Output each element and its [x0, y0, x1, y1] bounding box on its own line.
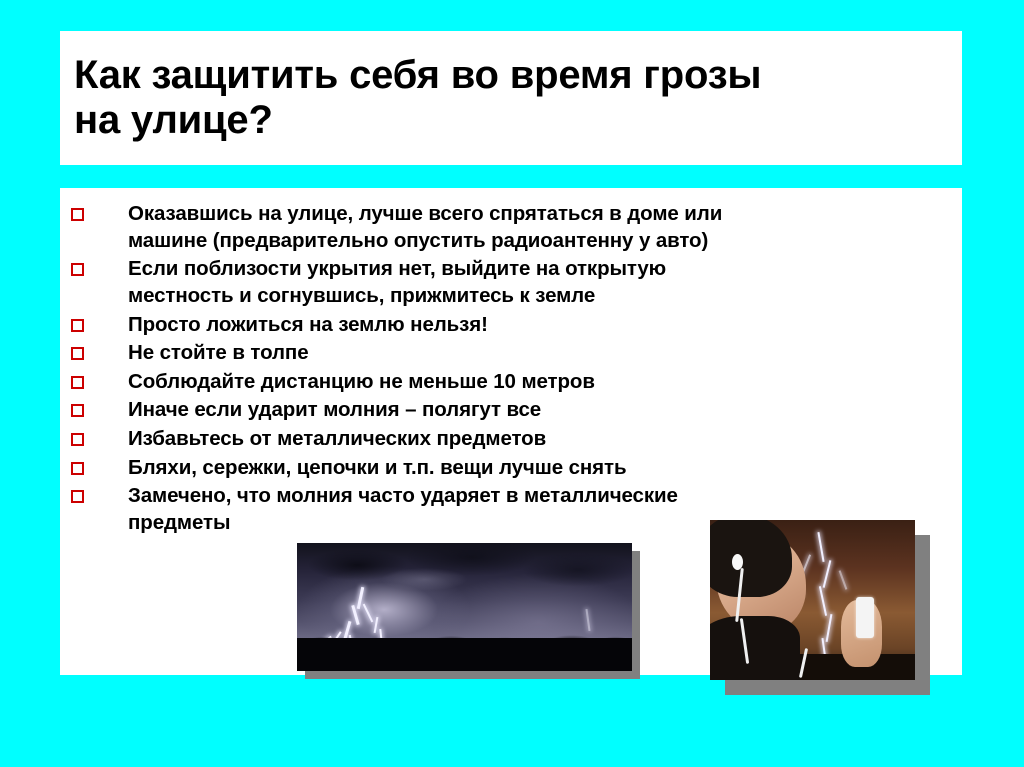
list-item: Если поблизости укрытия нет, выйдите на … [60, 256, 962, 309]
storm-clouds [297, 543, 632, 622]
title-panel: Как защитить себя во время грозы на улиц… [60, 31, 962, 165]
square-outline-bullet-icon [71, 376, 84, 389]
music-player-device [856, 597, 874, 639]
list-item: Не стойте в толпе [60, 340, 962, 367]
girl-shoulder [710, 616, 800, 680]
square-outline-bullet-icon [71, 433, 84, 446]
square-outline-bullet-icon [71, 404, 84, 417]
list-item-label: Соблюдайте дистанцию не меньше 10 метров [128, 369, 948, 396]
list-item-label: Если поблизости укрытия нет, выйдите на … [128, 256, 948, 309]
list-item-label: Избавьтесь от металлических предметов [128, 426, 948, 453]
list-item: Бляхи, сережки, цепочки и т.п. вещи лучш… [60, 455, 962, 482]
girl-with-earphones-photo [710, 520, 915, 680]
slide: Как защитить себя во время грозы на улиц… [0, 0, 1024, 767]
list-item: Избавьтесь от металлических предметов [60, 426, 962, 453]
square-outline-bullet-icon [71, 319, 84, 332]
page-title: Как защитить себя во время грозы на улиц… [74, 53, 942, 143]
list-item-label: Просто ложиться на землю нельзя! [128, 312, 948, 339]
square-outline-bullet-icon [71, 263, 84, 276]
list-item: Просто ложиться на землю нельзя! [60, 312, 962, 339]
list-item-label: Иначе если ударит молния – полягут все [128, 397, 948, 424]
list-item: Соблюдайте дистанцию не меньше 10 метров [60, 369, 962, 396]
list-item-label: Оказавшись на улице, лучше всего спрятат… [128, 201, 948, 254]
bullet-list: Оказавшись на улице, лучше всего спрятат… [60, 188, 962, 539]
square-outline-bullet-icon [71, 462, 84, 475]
storm-horizon-treeline [297, 638, 632, 671]
girl-hair [710, 520, 792, 597]
girl-with-earphones-photo-frame [710, 520, 915, 680]
list-item-label: Не стойте в толпе [128, 340, 948, 367]
lightning-storm-photo-frame [297, 543, 632, 671]
lightning-storm-photo [297, 543, 632, 671]
list-item-label: Бляхи, сережки, цепочки и т.п. вещи лучш… [128, 455, 948, 482]
square-outline-bullet-icon [71, 208, 84, 221]
list-item: Оказавшись на улице, лучше всего спрятат… [60, 201, 962, 254]
square-outline-bullet-icon [71, 347, 84, 360]
square-outline-bullet-icon [71, 490, 84, 503]
list-item: Иначе если ударит молния – полягут все [60, 397, 962, 424]
